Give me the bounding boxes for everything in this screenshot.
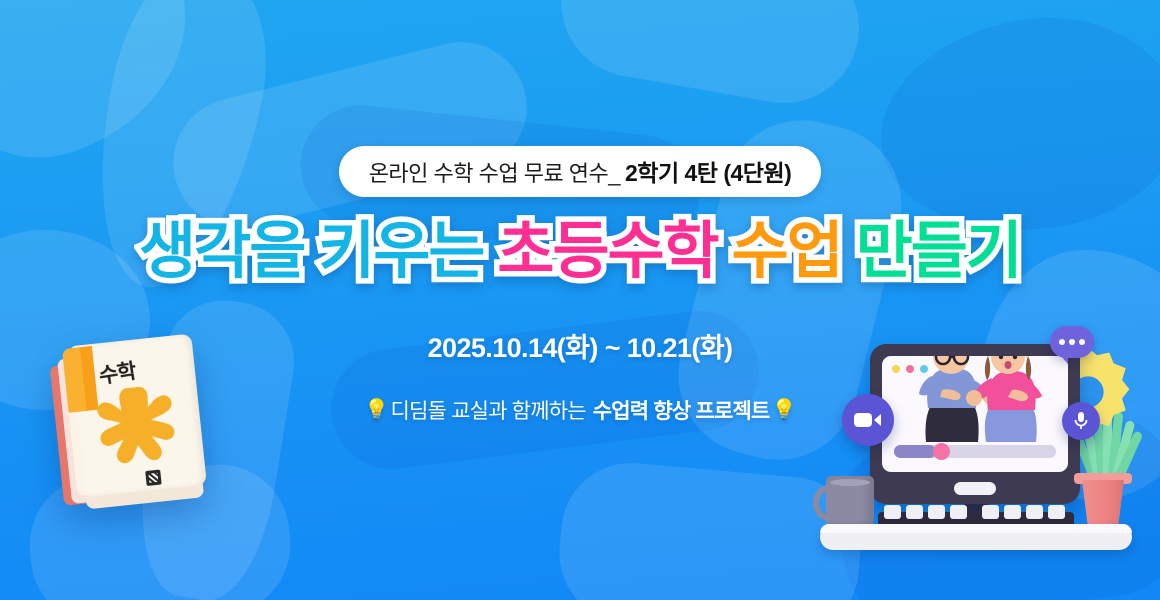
headline-word-3: 초등수학 [497, 215, 717, 288]
window-dot-yellow [892, 365, 900, 373]
background-blob [0, 0, 219, 185]
chat-bubble-icon [1050, 326, 1094, 358]
video-progress-fill [894, 445, 936, 458]
math-textbook-illustration: 수학 [39, 324, 229, 521]
course-badge: 온라인 수학 수업 무료 연수_ 2학기 4탄 (4단원) [339, 146, 822, 197]
promo-banner: 수학 [0, 0, 1160, 600]
lightbulb-icon-right: 💡 [772, 400, 796, 420]
desk-surface [820, 524, 1132, 550]
headline-word-5: 만들기 [856, 215, 1021, 288]
headline-word-4: 수업 [732, 215, 842, 288]
person-woman-avatar [964, 356, 1052, 442]
event-subtitle: 💡 디딤돌 교실과 함께하는 수업력 향상 프로젝트 💡 [364, 395, 795, 425]
splat-asterisk-icon [92, 379, 193, 476]
background-blob [549, 0, 870, 115]
video-progress-knob[interactable] [933, 443, 950, 460]
event-subtitle-bold-text: 수업력 향상 프로젝트 [593, 395, 770, 425]
event-date: 2025.10.14(화) ~ 10.21(화) [428, 326, 733, 365]
book-stamp-icon [145, 470, 161, 486]
course-badge-bold-text: 2학기 4탄 (4단원) [625, 154, 791, 188]
monitor [870, 344, 1080, 504]
video-camera-icon[interactable] [842, 394, 894, 446]
microphone-icon[interactable] [1062, 402, 1100, 440]
headline-word-2: 키우는 [318, 215, 483, 288]
video-progress-bar[interactable] [894, 445, 1056, 458]
monitor-screen [882, 356, 1068, 472]
event-subtitle-normal-text: 디딤돌 교실과 함께하는 [390, 395, 585, 425]
lightbulb-icon-left: 💡 [364, 400, 388, 420]
headline-word-1: 생각을 [139, 215, 304, 288]
monitor-home-button [954, 482, 996, 495]
course-badge-normal-text: 온라인 수학 수업 무료 연수_ [369, 156, 620, 188]
video-class-illustration [812, 318, 1142, 550]
coffee-mug-icon [826, 476, 874, 528]
background-blob [160, 28, 541, 241]
page-title: 생각을 키우는 초등수학 수업 만들기 [139, 215, 1021, 288]
